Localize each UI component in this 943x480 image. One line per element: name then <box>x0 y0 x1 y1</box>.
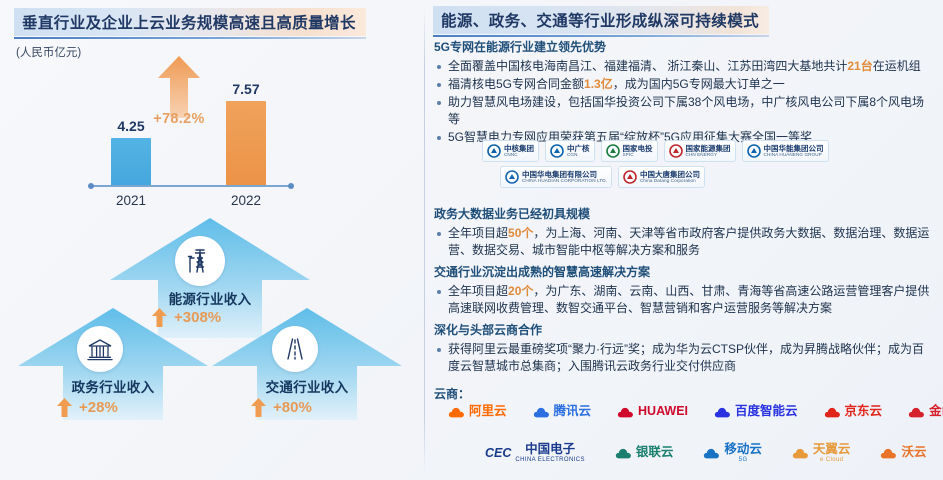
panel-divider <box>424 6 425 474</box>
cloud-vendor-name: 阿里云 <box>469 405 507 419</box>
partner-logo: 中国华能集团公司CHINA HUANENG GROUP <box>742 140 829 162</box>
cgn-mark <box>550 144 564 158</box>
bar-2022 <box>226 101 266 186</box>
cloud-vendors-label: 云商： <box>434 385 470 402</box>
partner-logo-subtitle: CHINA HUANENG GROUP <box>764 153 824 158</box>
bar-value-2021: 4.25 <box>101 118 161 134</box>
partner-logo-subtitle: CGN <box>567 153 590 158</box>
ctyun-mark <box>792 446 809 460</box>
partner-logo: 中广核CGN <box>545 140 595 162</box>
cloud-vendor-logo: 移动云5G <box>703 443 762 463</box>
huaneng-mark <box>747 144 761 158</box>
cloud-vendor-logo: 天翼云e Cloud <box>792 443 851 463</box>
energy-partner-logos-row1: 中核集团CNNC中广核CGN国家电投SPIC国家能源集团CHN ENERGY中国… <box>482 140 829 162</box>
section-cloud-partners-head: 深化与头部云商合作 <box>434 321 934 338</box>
cloud-vendor-name: 京东云 <box>845 405 883 419</box>
traffic-revenue-title: 交通行业收入 <box>227 376 387 396</box>
cloud-vendor-logo: 金山云 <box>908 405 943 419</box>
growth-arrow-icon <box>157 56 201 118</box>
cmcloud-mark <box>703 446 720 460</box>
bullet-item: 全面覆盖中国核电海南昌江、福建福清、 浙江秦山、江苏田湾四大基地共计21台在运机… <box>434 58 934 75</box>
partner-logo: 国家电投SPIC <box>601 140 658 162</box>
highlight-value: 21台 <box>847 59 872 73</box>
cloud-vendor-name: 中国电子 <box>525 443 575 457</box>
cloud-vendor-logo: 京东云 <box>824 405 883 419</box>
cloud-vendor-name: HUAWEI <box>638 405 688 419</box>
cloud-vendor-name: 金山云 <box>929 405 943 419</box>
tencent-mark <box>533 405 550 419</box>
section-cloud-partners: 深化与头部云商合作 获得阿里云最重磅奖项“聚力·行远”奖；成为华为云CTSP伙伴… <box>434 321 934 376</box>
chart-unit-note: (人民币亿元) <box>16 44 81 60</box>
baidu-mark <box>714 405 731 419</box>
cloud-vendor-name: 天翼云 <box>813 443 851 457</box>
partner-logo-subtitle: CNNC <box>504 153 534 158</box>
cloud-vendor-name: 银联云 <box>636 446 674 460</box>
bullet-item: 福清核电5G专网合同金额1.3亿，成为国内5G专网最大订单之一 <box>434 76 934 93</box>
section-traffic-bullets: 全年项目超20个，为广东、湖南、云南、山西、甘肃、青海等省高速公路运营管理客户提… <box>434 283 934 317</box>
bullet-item: 全年项目超50个，为上海、河南、天津等省市政府客户提供政务大数据、数据治理、数据… <box>434 225 934 259</box>
highlight-value: 50个 <box>508 226 533 240</box>
spic-mark <box>606 144 620 158</box>
traffic-growth-value: +80% <box>273 399 312 416</box>
revenue-bar-chart: +78.2% 4.25 7.57 2021 2022 <box>95 56 395 216</box>
section-gov-bigdata: 政务大数据业务已经初具规模 全年项目超50个，为上海、河南、天津等省市政府客户提… <box>434 205 934 260</box>
cloud-vendor-logo: 腾讯云 <box>533 405 592 419</box>
energy-partner-logos-row2: 中国华电集团有限公司CHINA HUADIAN CORPORATION LTD.… <box>500 166 705 188</box>
chnenergy-mark <box>669 144 683 158</box>
gov-revenue-title: 政务行业收入 <box>33 376 193 396</box>
cloud-vendor-logo: HUAWEI <box>617 405 688 419</box>
section-5g-energy-bullets: 全面覆盖中国核电海南昌江、福建福清、 浙江秦山、江苏田湾四大基地共计21台在运机… <box>434 58 934 146</box>
up-arrow-icon <box>57 398 72 417</box>
section-5g-energy: 5G专网在能源行业建立领先优势 全面覆盖中国核电海南昌江、福建福清、 浙江秦山、… <box>434 38 934 147</box>
jd-mark <box>824 405 841 419</box>
cloud-vendor-logos-row1: 阿里云腾讯云HUAWEI百度智能云京东云金山云 <box>448 405 943 419</box>
partner-logo-subtitle: CHINA HUADIAN CORPORATION LTD. <box>522 179 607 184</box>
section-gov-bigdata-bullets: 全年项目超50个，为上海、河南、天津等省市政府客户提供政务大数据、数据治理、数据… <box>434 225 934 259</box>
cloud-vendor-subtitle: CHINA ELECTRONICS <box>515 457 584 464</box>
huawei-mark <box>617 405 634 419</box>
cloud-vendor-logo: 沃云 <box>880 446 926 460</box>
section-traffic-head: 交通行业沉淀出成熟的智慧高速解决方案 <box>434 263 934 280</box>
cloud-vendor-logo: 银联云 <box>615 446 674 460</box>
left-title-text: 垂直行业及企业上云业务规模高速且高质量增长 <box>14 8 366 36</box>
partner-logo-subtitle: SPIC <box>623 153 653 158</box>
cnnc-mark <box>487 144 501 158</box>
wocloud-mark <box>880 446 897 460</box>
bar-2021 <box>111 138 151 186</box>
right-panel-title: 能源、政务、交通等行业形成纵深可持续模式 <box>433 6 769 37</box>
partner-logo-subtitle: China Datang Corporation <box>640 179 700 184</box>
bullet-item: 全年项目超20个，为广东、湖南、云南、山西、甘肃、青海等省高速公路运营管理客户提… <box>434 283 934 317</box>
cloud-vendor-logo: 百度智能云 <box>714 405 798 419</box>
slide-root: 垂直行业及企业上云业务规模高速且高质量增长 (人民币亿元) +78.2% 4.2… <box>0 0 943 480</box>
cloud-vendor-subtitle: e Cloud <box>820 457 843 464</box>
bullet-item: 获得阿里云最重磅奖项“聚力·行远”奖；成为华为云CTSP伙伴，成为昇腾战略伙伴；… <box>434 341 934 375</box>
bank-icon <box>77 326 123 372</box>
partner-logo: 中国华电集团有限公司CHINA HUADIAN CORPORATION LTD. <box>500 166 612 188</box>
cloud-vendor-name: 沃云 <box>901 446 926 460</box>
cloud-vendor-logo: 阿里云 <box>448 405 507 419</box>
axis-tick-2022: 2022 <box>216 193 276 208</box>
gov-growth-value: +28% <box>79 399 118 416</box>
unionpay-mark <box>615 446 632 460</box>
section-5g-energy-head: 5G专网在能源行业建立领先优势 <box>434 38 934 55</box>
traffic-revenue-growth: +80% <box>251 398 312 417</box>
huadian-mark <box>505 170 519 184</box>
cloud-vendor-name: 腾讯云 <box>554 405 592 419</box>
bar-value-2022: 7.57 <box>216 81 276 97</box>
partner-logo: 国家能源集团CHN ENERGY <box>664 140 736 162</box>
left-title-underline <box>14 37 366 39</box>
cloud-vendor-name: 百度智能云 <box>735 405 798 419</box>
partner-logo: 中国大唐集团公司China Datang Corporation <box>618 166 705 188</box>
cloud-vendor-prefix: CEC <box>485 446 511 460</box>
section-gov-bigdata-head: 政务大数据业务已经初具规模 <box>434 205 934 222</box>
section-cloud-partners-bullets: 获得阿里云最重磅奖项“聚力·行远”奖；成为华为云CTSP伙伴，成为昇腾战略伙伴；… <box>434 341 934 375</box>
highlight-value: 20个 <box>508 284 533 298</box>
partner-logo-subtitle: CHN ENERGY <box>686 153 731 158</box>
aliyun-mark <box>448 405 465 419</box>
partner-logo: 中核集团CNNC <box>482 140 539 162</box>
highlight-value: 1.3亿 <box>584 77 613 91</box>
bullet-item: 助力智慧风电场建设，包括国华投资公司下属38个风电场，中广核风电公司下属8个风电… <box>434 94 934 128</box>
left-panel-title: 垂直行业及企业上云业务规模高速且高质量增长 <box>14 8 366 39</box>
cloud-vendor-name: 移动云 <box>724 443 762 457</box>
ksyun-mark <box>908 405 925 419</box>
right-title-underline <box>433 35 769 37</box>
up-arrow-icon <box>251 398 266 417</box>
cloud-vendor-logos-row2: CEC中国电子CHINA ELECTRONICS银联云移动云5G天翼云e Clo… <box>485 443 926 463</box>
cloud-vendor-logo: CEC中国电子CHINA ELECTRONICS <box>485 443 585 463</box>
right-title-text: 能源、政务、交通等行业形成纵深可持续模式 <box>433 6 769 34</box>
energy-revenue-title: 能源行业收入 <box>130 288 290 308</box>
section-traffic: 交通行业沉淀出成熟的智慧高速解决方案 全年项目超20个，为广东、湖南、云南、山西… <box>434 263 934 318</box>
gov-revenue-growth: +28% <box>57 398 118 417</box>
axis-tick-2021: 2021 <box>101 193 161 208</box>
cloud-vendor-subtitle: 5G <box>739 457 748 464</box>
power-tower-icon <box>175 236 225 286</box>
datang-mark <box>623 170 637 184</box>
highway-icon <box>272 326 318 372</box>
chart-axis-line <box>91 185 291 187</box>
